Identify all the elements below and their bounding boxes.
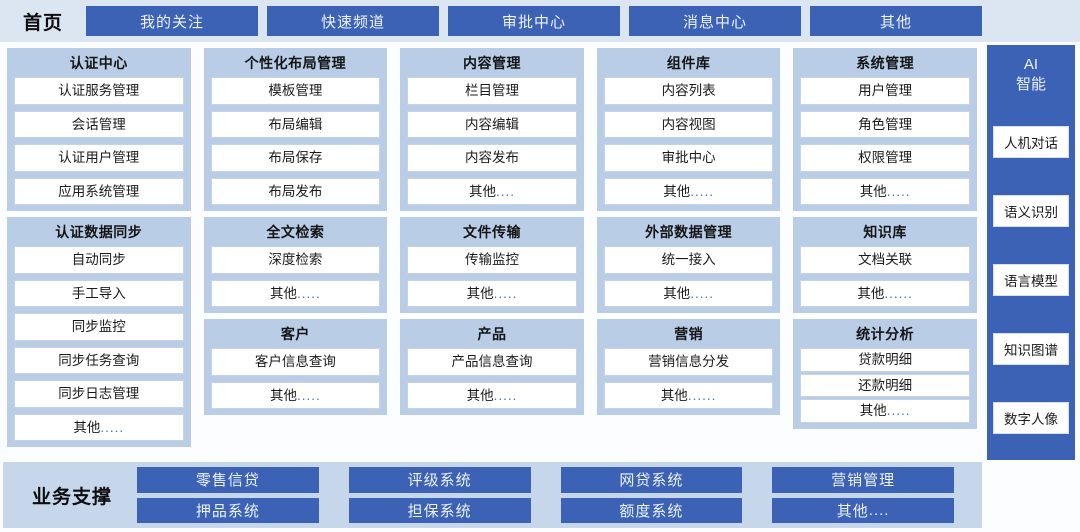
ellipsis-dots: .... <box>869 502 890 519</box>
module-item[interactable]: 手工导入 <box>14 280 184 308</box>
ellipsis-dots: ..... <box>887 184 911 199</box>
module-item[interactable]: 其他..... <box>407 382 577 410</box>
module-item[interactable]: 同步任务查询 <box>14 347 184 375</box>
module-card-title: 组件库 <box>604 50 774 77</box>
module-card-items: 营销信息分发其他...... <box>604 348 774 409</box>
ellipsis-dots: ..... <box>494 286 518 301</box>
module-card-title: 知识库 <box>800 219 970 246</box>
business-system-button[interactable]: 网贷系统 <box>561 467 743 493</box>
module-item[interactable]: 其他..... <box>604 178 774 206</box>
module-card: 外部数据管理统一接入其他..... <box>597 217 781 313</box>
module-item[interactable]: 其他.... <box>407 178 577 206</box>
ai-title-line1: AI <box>1016 55 1046 75</box>
module-item[interactable]: 营销信息分发 <box>604 348 774 376</box>
ai-sidebar-item[interactable]: 语义识别 <box>993 195 1069 227</box>
module-item[interactable]: 深度检索 <box>211 246 381 274</box>
module-item[interactable]: 权限管理 <box>800 144 970 172</box>
business-system-button[interactable]: 担保系统 <box>349 498 531 524</box>
module-card: 个性化布局管理模板管理布局编辑布局保存布局发布 <box>204 48 388 211</box>
business-support-bar: 业务支撑 零售信贷评级系统网贷系统营销管理押品系统担保系统额度系统其他 .... <box>3 462 982 528</box>
module-item[interactable]: 其他..... <box>407 280 577 308</box>
module-card-title: 认证中心 <box>14 50 184 77</box>
ai-sidebar-item[interactable]: 语言模型 <box>993 264 1069 296</box>
ai-title-line2: 智能 <box>1016 75 1046 95</box>
nav-tab[interactable]: 消息中心 <box>629 6 801 36</box>
module-card: 营销营销信息分发其他...... <box>597 319 781 415</box>
ai-sidebar-item[interactable]: 数字人像 <box>993 402 1069 434</box>
ellipsis-dots: ..... <box>100 420 124 435</box>
module-card-items: 内容列表内容视图审批中心其他..... <box>604 77 774 205</box>
module-item[interactable]: 认证服务管理 <box>14 77 184 105</box>
module-item[interactable]: 贷款明细 <box>800 348 970 372</box>
module-item[interactable]: 其他..... <box>211 280 381 308</box>
ellipsis-dots: ..... <box>297 388 321 403</box>
module-item[interactable]: 其他..... <box>800 399 970 423</box>
module-card-items: 贷款明细还款明细其他..... <box>800 348 970 423</box>
module-item[interactable]: 同步监控 <box>14 313 184 341</box>
module-item[interactable]: 审批中心 <box>604 144 774 172</box>
ai-sidebar-items: 人机对话语义识别语言模型知识图谱数字人像 <box>993 110 1069 451</box>
ellipsis-dots: ..... <box>690 286 714 301</box>
module-card-items: 客户信息查询其他..... <box>211 348 381 409</box>
ellipsis-dots: ..... <box>297 286 321 301</box>
module-item[interactable]: 文档关联 <box>800 246 970 274</box>
module-card-items: 文档关联其他...... <box>800 246 970 307</box>
module-item[interactable]: 内容发布 <box>407 144 577 172</box>
module-item[interactable]: 客户信息查询 <box>211 348 381 376</box>
module-card: 客户客户信息查询其他..... <box>204 319 388 415</box>
module-card-title: 系统管理 <box>800 50 970 77</box>
module-card-items: 深度检索其他..... <box>211 246 381 307</box>
module-card: 知识库文档关联其他...... <box>793 217 977 313</box>
ai-sidebar-item[interactable]: 知识图谱 <box>993 333 1069 365</box>
module-item[interactable]: 模板管理 <box>211 77 381 105</box>
module-item[interactable]: 其他..... <box>604 280 774 308</box>
module-card-title: 个性化布局管理 <box>211 50 381 77</box>
module-item[interactable]: 同步日志管理 <box>14 380 184 408</box>
module-card-items: 栏目管理内容编辑内容发布其他.... <box>407 77 577 205</box>
ai-sidebar: AI 智能 人机对话语义识别语言模型知识图谱数字人像 <box>987 45 1075 460</box>
card-column: 组件库内容列表内容视图审批中心其他.....外部数据管理统一接入其他.....营… <box>593 45 785 460</box>
ai-sidebar-item[interactable]: 人机对话 <box>993 126 1069 158</box>
module-card-title: 外部数据管理 <box>604 219 774 246</box>
card-column: 内容管理栏目管理内容编辑内容发布其他....文件传输传输监控其他.....产品产… <box>396 45 588 460</box>
module-card-items: 统一接入其他..... <box>604 246 774 307</box>
module-card: 全文检索深度检索其他..... <box>204 217 388 313</box>
module-item[interactable]: 内容列表 <box>604 77 774 105</box>
business-system-button[interactable]: 其他 .... <box>772 498 954 524</box>
business-system-button[interactable]: 额度系统 <box>561 498 743 524</box>
card-columns: 认证中心认证服务管理会话管理认证用户管理应用系统管理认证数据同步自动同步手工导入… <box>0 45 985 460</box>
module-item[interactable]: 产品信息查询 <box>407 348 577 376</box>
module-card-title: 产品 <box>407 321 577 348</box>
module-card-title: 营销 <box>604 321 774 348</box>
module-card-title: 文件传输 <box>407 219 577 246</box>
module-item[interactable]: 应用系统管理 <box>14 178 184 206</box>
business-support-label: 业务支撑 <box>7 482 137 509</box>
ellipsis-dots: ..... <box>690 184 714 199</box>
module-card-items: 传输监控其他..... <box>407 246 577 307</box>
module-card: 文件传输传输监控其他..... <box>400 217 584 313</box>
module-card: 产品产品信息查询其他..... <box>400 319 584 415</box>
main-body: 认证中心认证服务管理会话管理认证用户管理应用系统管理认证数据同步自动同步手工导入… <box>0 42 1080 460</box>
module-item[interactable]: 还款明细 <box>800 374 970 398</box>
ellipsis-dots: ...... <box>884 286 913 301</box>
module-item[interactable]: 栏目管理 <box>407 77 577 105</box>
module-item[interactable]: 内容编辑 <box>407 111 577 139</box>
module-card-title: 统计分析 <box>800 321 970 348</box>
nav-tab[interactable]: 我的关注 <box>86 6 258 36</box>
business-system-button[interactable]: 押品系统 <box>137 498 319 524</box>
module-card: 统计分析贷款明细还款明细其他..... <box>793 319 977 429</box>
nav-tab[interactable]: 快速频道 <box>267 6 439 36</box>
module-card: 认证数据同步自动同步手工导入同步监控同步任务查询同步日志管理其他..... <box>7 217 191 447</box>
card-column: 认证中心认证服务管理会话管理认证用户管理应用系统管理认证数据同步自动同步手工导入… <box>3 45 195 460</box>
module-item[interactable]: 布局发布 <box>211 178 381 206</box>
module-card-items: 产品信息查询其他..... <box>407 348 577 409</box>
module-item[interactable]: 其他...... <box>604 382 774 410</box>
module-card: 内容管理栏目管理内容编辑内容发布其他.... <box>400 48 584 211</box>
business-support-buttons: 零售信贷评级系统网贷系统营销管理押品系统担保系统额度系统其他 .... <box>137 467 972 523</box>
module-card-items: 认证服务管理会话管理认证用户管理应用系统管理 <box>14 77 184 205</box>
module-item[interactable]: 用户管理 <box>800 77 970 105</box>
module-item[interactable]: 内容视图 <box>604 111 774 139</box>
module-item[interactable]: 会话管理 <box>14 111 184 139</box>
module-item[interactable]: 布局保存 <box>211 144 381 172</box>
card-column: 系统管理用户管理角色管理权限管理其他.....知识库文档关联其他......统计… <box>789 45 981 460</box>
module-item[interactable]: 统一接入 <box>604 246 774 274</box>
ellipsis-dots: ..... <box>887 403 911 418</box>
top-navigation-bar: 首页 我的关注快速频道审批中心消息中心其他 <box>0 0 1080 42</box>
module-item[interactable]: 自动同步 <box>14 246 184 274</box>
module-card-title: 内容管理 <box>407 50 577 77</box>
ellipsis-dots: ..... <box>494 388 518 403</box>
module-card: 系统管理用户管理角色管理权限管理其他..... <box>793 48 977 211</box>
module-item[interactable]: 布局编辑 <box>211 111 381 139</box>
module-item[interactable]: 其他..... <box>800 178 970 206</box>
bottom-right-spacer <box>987 462 1075 528</box>
module-card-items: 用户管理角色管理权限管理其他..... <box>800 77 970 205</box>
module-item[interactable]: 其他...... <box>800 280 970 308</box>
module-card: 认证中心认证服务管理会话管理认证用户管理应用系统管理 <box>7 48 191 211</box>
dashboard-page: 首页 我的关注快速频道审批中心消息中心其他 认证中心认证服务管理会话管理认证用户… <box>0 0 1080 532</box>
business-system-button[interactable]: 营销管理 <box>772 467 954 493</box>
module-card-title: 全文检索 <box>211 219 381 246</box>
bottom-row: 业务支撑 零售信贷评级系统网贷系统营销管理押品系统担保系统额度系统其他 .... <box>0 460 1080 532</box>
module-card-title: 认证数据同步 <box>14 219 184 246</box>
nav-tabs: 我的关注快速频道审批中心消息中心其他 <box>86 0 986 42</box>
module-card-items: 模板管理布局编辑布局保存布局发布 <box>211 77 381 205</box>
ellipsis-dots: .... <box>496 184 515 199</box>
home-label: 首页 <box>0 8 86 35</box>
ai-sidebar-title: AI 智能 <box>1016 53 1046 104</box>
module-card-items: 自动同步手工导入同步监控同步任务查询同步日志管理其他..... <box>14 246 184 441</box>
business-system-button[interactable]: 零售信贷 <box>137 467 319 493</box>
module-item[interactable]: 其他..... <box>14 414 184 442</box>
nav-tab[interactable]: 审批中心 <box>448 6 620 36</box>
module-card: 组件库内容列表内容视图审批中心其他..... <box>597 48 781 211</box>
module-card-title: 客户 <box>211 321 381 348</box>
module-item[interactable]: 其他..... <box>211 382 381 410</box>
business-system-button[interactable]: 评级系统 <box>349 467 531 493</box>
module-item[interactable]: 角色管理 <box>800 111 970 139</box>
module-item[interactable]: 传输监控 <box>407 246 577 274</box>
card-column: 个性化布局管理模板管理布局编辑布局保存布局发布全文检索深度检索其他.....客户… <box>200 45 392 460</box>
ellipsis-dots: ...... <box>688 388 717 403</box>
nav-tab[interactable]: 其他 <box>810 6 982 36</box>
module-item[interactable]: 认证用户管理 <box>14 144 184 172</box>
